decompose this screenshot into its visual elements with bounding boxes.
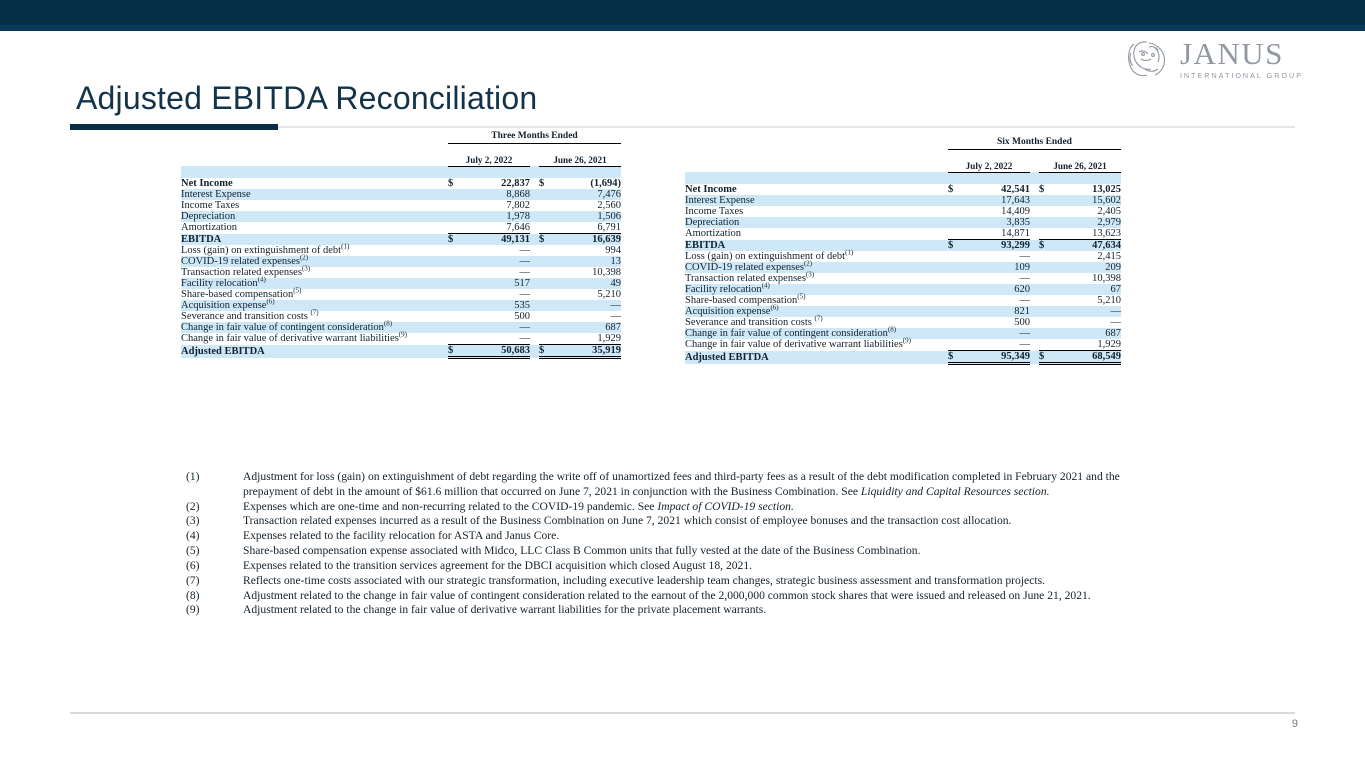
footnote-text: Reflects one-time costs associated with … xyxy=(243,574,1146,589)
page-title: Adjusted EBITDA Reconciliation xyxy=(76,80,537,117)
row-label: COVID-19 related expenses(2) xyxy=(181,256,448,267)
row-label: Income Taxes xyxy=(685,206,948,217)
row-label: Adjusted EBITDA xyxy=(181,345,448,358)
currency-symbol xyxy=(539,200,555,211)
row-label: Transaction related expenses(3) xyxy=(685,273,948,284)
currency-symbol xyxy=(1039,328,1055,339)
table-row: COVID-19 related expenses(2)109209 xyxy=(685,262,1121,273)
row-value-period-2: 2,405 xyxy=(1055,206,1121,217)
currency-symbol: $ xyxy=(448,345,464,358)
row-value-period-1: 14,871 xyxy=(964,228,1030,240)
table-row: Severance and transition costs (7)500— xyxy=(685,317,1121,328)
row-value-period-1: — xyxy=(464,245,530,256)
currency-symbol xyxy=(948,273,964,284)
currency-symbol xyxy=(539,289,555,300)
row-value-period-2: 68,549 xyxy=(1055,351,1121,364)
currency-symbol: $ xyxy=(1039,184,1055,195)
ebitda-table-six-months: Six Months EndedJuly 2, 2022June 26, 202… xyxy=(685,137,1121,365)
row-value-period-2: 15,602 xyxy=(1055,195,1121,206)
row-value-period-1: — xyxy=(964,328,1030,339)
currency-symbol xyxy=(948,328,964,339)
brand-name: JANUS xyxy=(1180,38,1303,69)
table-row: Share-based compensation(5)—5,210 xyxy=(685,295,1121,306)
row-label: Share-based compensation(5) xyxy=(181,289,448,300)
currency-symbol xyxy=(948,339,964,351)
group-header-label: Six Months Ended xyxy=(948,137,1121,150)
row-value-period-2: 67 xyxy=(1055,284,1121,295)
currency-symbol xyxy=(539,245,555,256)
currency-symbol xyxy=(1039,317,1055,328)
currency-symbol xyxy=(448,189,464,200)
top-bar-shade xyxy=(0,25,1365,31)
row-value-period-2: 35,919 xyxy=(555,345,621,358)
row-value-period-1: 14,409 xyxy=(964,206,1030,217)
row-value-period-1: 109 xyxy=(964,262,1030,273)
row-label: Facility relocation(4) xyxy=(181,278,448,289)
footnote-item: (7)Reflects one-time costs associated wi… xyxy=(186,574,1146,589)
footnote-marker: (8) xyxy=(186,589,243,604)
ebitda-table-three-months: Three Months EndedJuly 2, 2022June 26, 2… xyxy=(181,131,621,359)
currency-symbol xyxy=(448,311,464,322)
currency-symbol xyxy=(539,222,555,234)
brand-wordmark: JANUS INTERNATIONAL GROUP xyxy=(1180,38,1303,79)
footnote-text: Expenses which are one-time and non-recu… xyxy=(243,500,1146,515)
row-label: Depreciation xyxy=(181,211,448,222)
currency-symbol xyxy=(539,267,555,278)
row-label: EBITDA xyxy=(181,234,448,246)
currency-symbol: $ xyxy=(948,351,964,364)
row-value-period-2: 47,634 xyxy=(1055,240,1121,252)
row-value-period-2: 1,929 xyxy=(1055,339,1121,351)
table-row: Transaction related expenses(3)—10,398 xyxy=(685,273,1121,284)
row-value-period-2: 2,560 xyxy=(555,200,621,211)
table-group-header-row: Six Months Ended xyxy=(685,137,1121,150)
currency-symbol xyxy=(1039,217,1055,228)
row-value-period-1: — xyxy=(964,273,1030,284)
top-navy-bar xyxy=(0,0,1365,31)
currency-symbol xyxy=(448,322,464,333)
row-value-period-2: 7,476 xyxy=(555,189,621,200)
footnote-text: Expenses related to the facility relocat… xyxy=(243,529,1146,544)
currency-symbol xyxy=(1039,251,1055,262)
row-label: Net Income xyxy=(181,178,448,189)
footnote-text: Adjustment for loss (gain) on extinguish… xyxy=(243,470,1146,500)
row-label: EBITDA xyxy=(685,240,948,252)
footnote-marker: (5) xyxy=(186,544,243,559)
row-value-period-1: 8,868 xyxy=(464,189,530,200)
row-value-period-2: 5,210 xyxy=(1055,295,1121,306)
table-row: Loss (gain) on extinguishment of debt(1)… xyxy=(181,245,621,256)
row-value-period-2: 16,639 xyxy=(555,234,621,246)
row-value-period-1: 535 xyxy=(464,300,530,311)
currency-symbol xyxy=(448,267,464,278)
table-row: EBITDA$93,299$47,634 xyxy=(685,240,1121,252)
currency-symbol xyxy=(539,278,555,289)
footnotes-list: (1)Adjustment for loss (gain) on extingu… xyxy=(186,470,1146,618)
row-value-period-1: 7,646 xyxy=(464,222,530,234)
row-label: Loss (gain) on extinguishment of debt(1) xyxy=(181,245,448,256)
table-blank-band-row xyxy=(181,166,621,178)
column-header-period-2: June 26, 2021 xyxy=(1039,161,1121,173)
row-value-period-1: 821 xyxy=(964,306,1030,317)
table-blank-band-row xyxy=(685,172,1121,184)
row-value-period-1: 620 xyxy=(964,284,1030,295)
footnote-item: (9)Adjustment related to the change in f… xyxy=(186,603,1146,618)
table-row: Transaction related expenses(3)—10,398 xyxy=(181,267,621,278)
table-row: Interest Expense17,64315,602 xyxy=(685,195,1121,206)
currency-symbol xyxy=(448,300,464,311)
footnote-item: (3)Transaction related expenses incurred… xyxy=(186,514,1146,529)
row-value-period-2: 5,210 xyxy=(555,289,621,300)
table-row: Amortization7,6466,791 xyxy=(181,222,621,234)
currency-symbol xyxy=(948,195,964,206)
currency-symbol xyxy=(448,200,464,211)
row-value-period-1: 3,835 xyxy=(964,217,1030,228)
footnote-item: (8)Adjustment related to the change in f… xyxy=(186,589,1146,604)
currency-symbol xyxy=(448,333,464,345)
footnote-text: Share-based compensation expense associa… xyxy=(243,544,1146,559)
table-row: Depreciation3,8352,979 xyxy=(685,217,1121,228)
table-row: Amortization14,87113,623 xyxy=(685,228,1121,240)
currency-symbol xyxy=(1039,295,1055,306)
footnote-marker: (9) xyxy=(186,603,243,618)
row-label: Depreciation xyxy=(685,217,948,228)
row-value-period-2: 994 xyxy=(555,245,621,256)
currency-symbol xyxy=(539,256,555,267)
table-column-header-row: July 2, 2022June 26, 2021 xyxy=(685,161,1121,173)
currency-symbol: $ xyxy=(948,184,964,195)
currency-symbol: $ xyxy=(1039,351,1055,364)
currency-symbol xyxy=(948,206,964,217)
row-value-period-1: 500 xyxy=(964,317,1030,328)
footnote-marker: (6) xyxy=(186,559,243,574)
row-value-period-2: 687 xyxy=(1055,328,1121,339)
row-label: Net Income xyxy=(685,184,948,195)
currency-symbol xyxy=(948,251,964,262)
row-value-period-2: 49 xyxy=(555,278,621,289)
row-value-period-1: — xyxy=(464,289,530,300)
row-label: Transaction related expenses(3) xyxy=(181,267,448,278)
footer-divider xyxy=(70,712,1295,714)
footnote-marker: (7) xyxy=(186,574,243,589)
footnote-marker: (2) xyxy=(186,500,243,515)
row-label: Loss (gain) on extinguishment of debt(1) xyxy=(685,251,948,262)
table-row: Interest Expense8,8687,476 xyxy=(181,189,621,200)
table-row: Severance and transition costs (7)500— xyxy=(181,311,621,322)
row-label: Amortization xyxy=(181,222,448,234)
row-value-period-2: 13 xyxy=(555,256,621,267)
footnote-text: Adjustment related to the change in fair… xyxy=(243,589,1146,604)
row-value-period-2: 209 xyxy=(1055,262,1121,273)
currency-symbol xyxy=(448,245,464,256)
currency-symbol xyxy=(1039,284,1055,295)
row-value-period-1: — xyxy=(464,322,530,333)
row-label: Facility relocation(4) xyxy=(685,284,948,295)
table-row: Acquisition expense(6)821— xyxy=(685,306,1121,317)
currency-symbol xyxy=(539,322,555,333)
table-column-header-row: July 2, 2022June 26, 2021 xyxy=(181,155,621,167)
row-label: Share-based compensation(5) xyxy=(685,295,948,306)
table-row: Change in fair value of derivative warra… xyxy=(685,339,1121,351)
table-row: Change in fair value of derivative warra… xyxy=(181,333,621,345)
row-value-period-2: 10,398 xyxy=(555,267,621,278)
currency-symbol xyxy=(948,295,964,306)
footnote-marker: (4) xyxy=(186,529,243,544)
row-label: Amortization xyxy=(685,228,948,240)
footnote-item: (2)Expenses which are one-time and non-r… xyxy=(186,500,1146,515)
row-value-period-1: 517 xyxy=(464,278,530,289)
table-row: Acquisition expense(6)535— xyxy=(181,300,621,311)
footnote-marker: (3) xyxy=(186,514,243,529)
table-row: Loss (gain) on extinguishment of debt(1)… xyxy=(685,251,1121,262)
currency-symbol xyxy=(539,189,555,200)
row-label: Severance and transition costs (7) xyxy=(181,311,448,322)
row-label: Change in fair value of derivative warra… xyxy=(685,339,948,351)
title-accent-bar xyxy=(70,124,278,130)
row-label: Interest Expense xyxy=(685,195,948,206)
currency-symbol xyxy=(1039,228,1055,240)
table-row: Adjusted EBITDA$50,683$35,919 xyxy=(181,345,621,358)
currency-symbol xyxy=(448,278,464,289)
row-value-period-2: — xyxy=(555,300,621,311)
row-label: Interest Expense xyxy=(181,189,448,200)
currency-symbol xyxy=(448,222,464,234)
currency-symbol xyxy=(448,211,464,222)
row-value-period-1: — xyxy=(464,256,530,267)
row-value-period-2: 2,979 xyxy=(1055,217,1121,228)
footnote-item: (1)Adjustment for loss (gain) on extingu… xyxy=(186,470,1146,500)
currency-symbol xyxy=(1039,262,1055,273)
column-header-period-1: July 2, 2022 xyxy=(448,155,530,167)
table-row: EBITDA$49,131$16,639 xyxy=(181,234,621,246)
currency-symbol xyxy=(1039,306,1055,317)
row-value-period-1: 49,131 xyxy=(464,234,530,246)
table-row: Share-based compensation(5)—5,210 xyxy=(181,289,621,300)
row-value-period-2: 1,506 xyxy=(555,211,621,222)
row-value-period-1: — xyxy=(964,295,1030,306)
table-row: Depreciation1,9781,506 xyxy=(181,211,621,222)
row-value-period-1: 22,837 xyxy=(464,178,530,189)
group-header-label: Three Months Ended xyxy=(448,131,621,144)
currency-symbol: $ xyxy=(539,178,555,189)
currency-symbol xyxy=(448,256,464,267)
row-label: Adjusted EBITDA xyxy=(685,351,948,364)
currency-symbol xyxy=(948,306,964,317)
table-row: Income Taxes7,8022,560 xyxy=(181,200,621,211)
currency-symbol xyxy=(948,217,964,228)
row-value-period-2: 687 xyxy=(555,322,621,333)
footnote-marker: (1) xyxy=(186,470,243,500)
row-value-period-1: — xyxy=(464,267,530,278)
row-value-period-2: — xyxy=(1055,317,1121,328)
row-value-period-2: 6,791 xyxy=(555,222,621,234)
currency-symbol xyxy=(539,311,555,322)
row-value-period-1: 95,349 xyxy=(964,351,1030,364)
currency-symbol: $ xyxy=(448,234,464,246)
currency-symbol: $ xyxy=(539,345,555,358)
currency-symbol xyxy=(948,317,964,328)
row-value-period-1: 7,802 xyxy=(464,200,530,211)
table-row: Facility relocation(4)62067 xyxy=(685,284,1121,295)
brand-logo: JANUS INTERNATIONAL GROUP xyxy=(1125,38,1303,79)
currency-symbol xyxy=(448,289,464,300)
row-value-period-2: — xyxy=(555,311,621,322)
row-label: Severance and transition costs (7) xyxy=(685,317,948,328)
currency-symbol: $ xyxy=(948,240,964,252)
row-value-period-1: 17,643 xyxy=(964,195,1030,206)
currency-symbol: $ xyxy=(1039,240,1055,252)
footnote-item: (5)Share-based compensation expense asso… xyxy=(186,544,1146,559)
table-row: Facility relocation(4)51749 xyxy=(181,278,621,289)
footnote-item: (6)Expenses related to the transition se… xyxy=(186,559,1146,574)
row-value-period-2: 10,398 xyxy=(1055,273,1121,284)
table-row: COVID-19 related expenses(2)—13 xyxy=(181,256,621,267)
row-value-period-1: 1,978 xyxy=(464,211,530,222)
row-value-period-2: (1,694) xyxy=(555,178,621,189)
row-value-period-1: — xyxy=(964,339,1030,351)
row-label: COVID-19 related expenses(2) xyxy=(685,262,948,273)
footnote-item: (4)Expenses related to the facility relo… xyxy=(186,529,1146,544)
currency-symbol xyxy=(539,300,555,311)
column-header-period-2: June 26, 2021 xyxy=(539,155,621,167)
row-label: Change in fair value of contingent consi… xyxy=(181,322,448,333)
row-value-period-2: — xyxy=(1055,306,1121,317)
table-row: Adjusted EBITDA$95,349$68,549 xyxy=(685,351,1121,364)
table-row: Income Taxes14,4092,405 xyxy=(685,206,1121,217)
row-value-period-2: 13,025 xyxy=(1055,184,1121,195)
page-number: 9 xyxy=(1292,718,1298,730)
currency-symbol xyxy=(1039,273,1055,284)
row-value-period-1: 42,541 xyxy=(964,184,1030,195)
table-header-spacer xyxy=(685,150,1121,161)
currency-symbol xyxy=(948,284,964,295)
row-value-period-2: 13,623 xyxy=(1055,228,1121,240)
footnote-text: Expenses related to the transition servi… xyxy=(243,559,1146,574)
row-label: Income Taxes xyxy=(181,200,448,211)
janus-head-emblem-icon xyxy=(1125,39,1171,79)
currency-symbol xyxy=(539,333,555,345)
row-value-period-1: 50,683 xyxy=(464,345,530,358)
row-value-period-2: 1,929 xyxy=(555,333,621,345)
brand-tagline: INTERNATIONAL GROUP xyxy=(1180,72,1303,79)
currency-symbol xyxy=(1039,195,1055,206)
column-header-period-1: July 2, 2022 xyxy=(948,161,1030,173)
table-row: Net Income$42,541$13,025 xyxy=(685,184,1121,195)
currency-symbol xyxy=(948,262,964,273)
currency-symbol xyxy=(539,211,555,222)
row-value-period-1: 93,299 xyxy=(964,240,1030,252)
row-value-period-2: 2,415 xyxy=(1055,251,1121,262)
footnote-text: Adjustment related to the change in fair… xyxy=(243,603,1146,618)
currency-symbol xyxy=(1039,339,1055,351)
currency-symbol: $ xyxy=(448,178,464,189)
currency-symbol xyxy=(948,228,964,240)
row-value-period-1: — xyxy=(464,333,530,345)
table-header-spacer xyxy=(181,144,621,155)
footnote-text: Transaction related expenses incurred as… xyxy=(243,514,1146,529)
table-row: Net Income$22,837$(1,694) xyxy=(181,178,621,189)
currency-symbol: $ xyxy=(539,234,555,246)
row-label: Change in fair value of derivative warra… xyxy=(181,333,448,345)
table-group-header-row: Three Months Ended xyxy=(181,131,621,144)
currency-symbol xyxy=(1039,206,1055,217)
row-value-period-1: 500 xyxy=(464,311,530,322)
row-value-period-1: — xyxy=(964,251,1030,262)
